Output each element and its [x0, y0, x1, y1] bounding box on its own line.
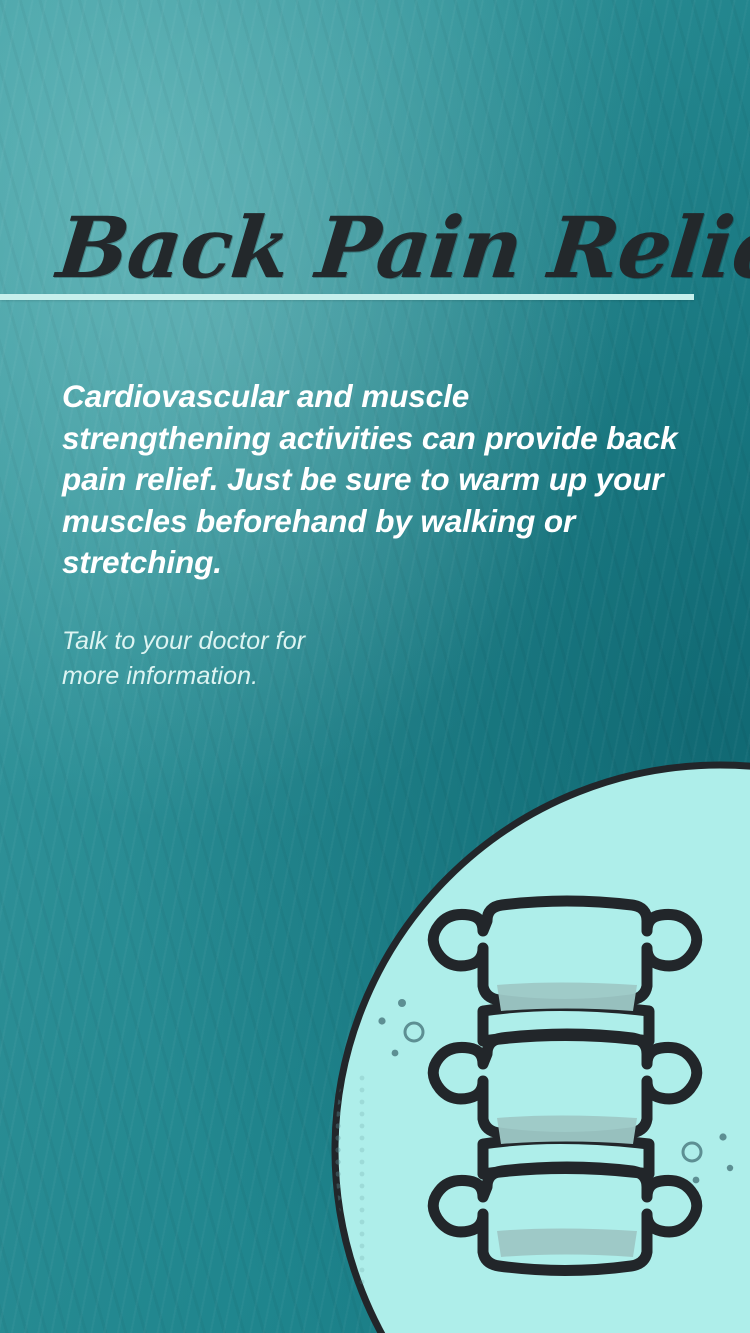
sub-paragraph: Talk to your doctor for more information… [62, 624, 352, 694]
spinal-disc-lower [483, 1139, 649, 1175]
page-title: Back Pain Relief [54, 206, 723, 290]
decorative-bubbles-right [683, 1133, 733, 1183]
spinal-disc-upper [483, 1006, 649, 1042]
spine-vertebrae-group [433, 901, 697, 1271]
vertebra-shading-bands [497, 983, 637, 1258]
shade-band-top [497, 983, 637, 1012]
vertebra-bottom [433, 1167, 697, 1271]
body-paragraph: Cardiovascular and muscle strengthening … [62, 376, 682, 584]
decorative-dot-columns [291, 1076, 364, 1313]
decorative-bubbles-left [378, 999, 423, 1056]
vertebra-middle [433, 1034, 697, 1138]
mint-circle-backdrop [335, 765, 750, 1333]
vertebra-top [433, 901, 697, 1005]
shade-band-middle [497, 1116, 637, 1145]
poster-canvas: Back Pain Relief Cardiovascular and musc… [0, 0, 750, 1333]
shade-band-bottom [497, 1229, 637, 1258]
title-underline-rule [0, 294, 694, 300]
